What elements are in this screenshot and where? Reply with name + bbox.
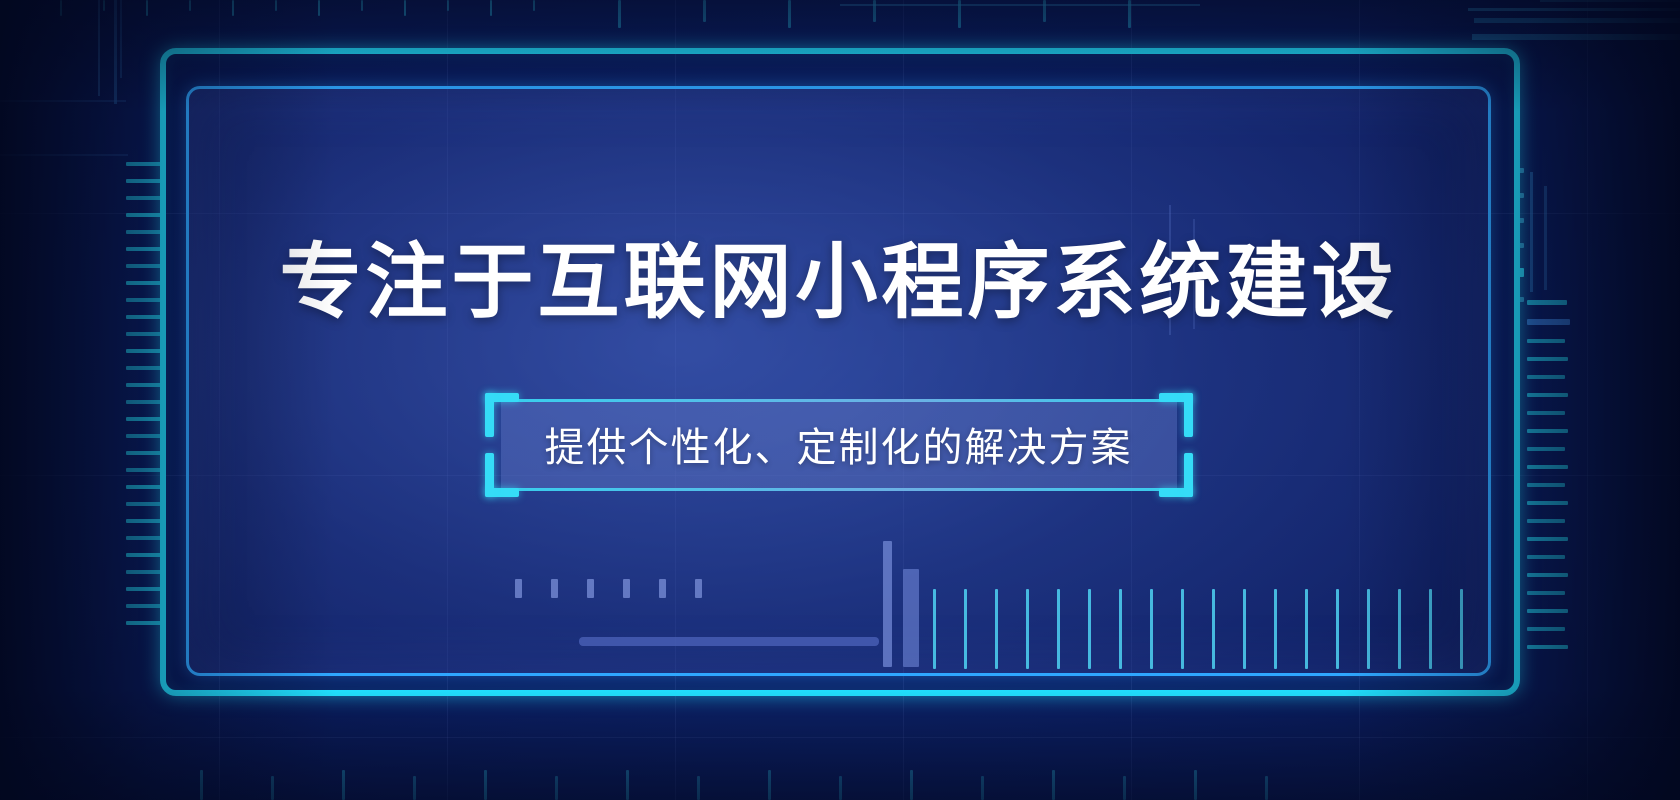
- banner-content: 专注于互联网小程序系统建设 提供个性化、定制化的解决方案: [189, 89, 1488, 673]
- page-subtitle: 提供个性化、定制化的解决方案: [545, 415, 1133, 473]
- inner-panel: 专注于互联网小程序系统建设 提供个性化、定制化的解决方案: [186, 86, 1491, 676]
- tech-banner: 专注于互联网小程序系统建设 提供个性化、定制化的解决方案: [0, 0, 1680, 800]
- corner-bracket-top-right-icon: [1159, 393, 1193, 437]
- corner-bracket-top-left-icon: [485, 393, 519, 437]
- subtitle-plate: 提供个性化、定制化的解决方案: [501, 401, 1177, 489]
- corner-bracket-bottom-right-icon: [1159, 453, 1193, 497]
- plate-rule-top: [501, 399, 1177, 402]
- corner-bracket-bottom-left-icon: [485, 453, 519, 497]
- page-title: 专注于互联网小程序系统建设: [279, 239, 1397, 328]
- plate-rule-bottom: [501, 488, 1177, 491]
